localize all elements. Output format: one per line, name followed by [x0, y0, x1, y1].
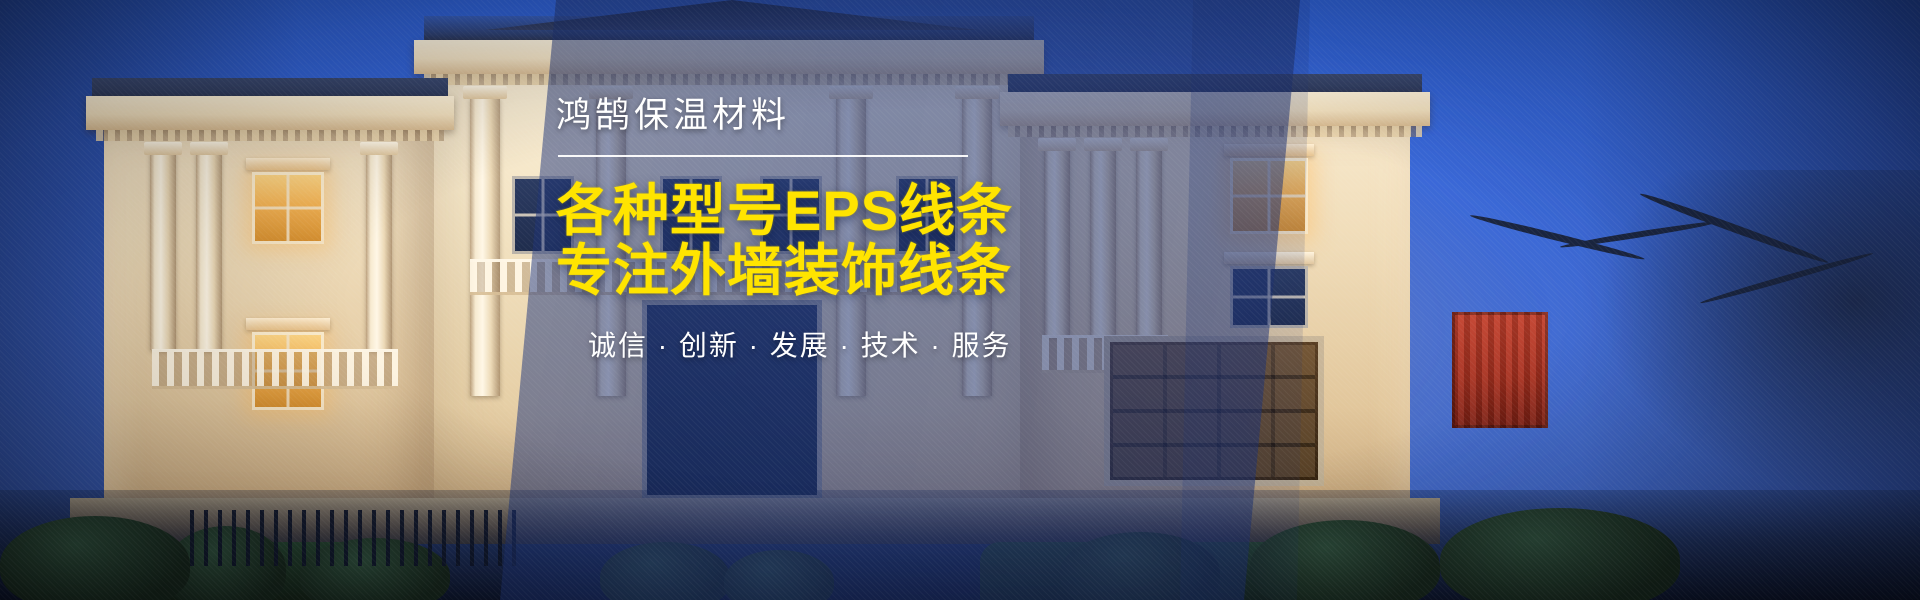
column: [150, 150, 176, 350]
building-left-dentils: [96, 130, 444, 141]
headline-line-2: 专注外墙装饰线条: [556, 241, 1076, 301]
column: [196, 150, 222, 350]
building-left-roof: [92, 78, 448, 98]
column: [366, 150, 392, 350]
column-capital: [463, 86, 507, 99]
window-muntins: [255, 175, 321, 241]
column-capital: [360, 142, 398, 155]
tagline: 诚信 · 创新 · 发展 · 技术 · 服务: [588, 332, 1076, 360]
promo-banner: 鸿鹄保温材料 各种型号EPS线条 专注外墙装饰线条 诚信 · 创新 · 发展 ·…: [0, 0, 1920, 600]
tree-right: [1590, 170, 1920, 500]
building-left-cornice: [86, 96, 454, 130]
fence-railing: [190, 510, 520, 566]
banner-copy-block: 鸿鹄保温材料 各种型号EPS线条 专注外墙装饰线条 诚信 · 创新 · 发展 ·…: [556, 98, 1076, 360]
balustrade: [152, 352, 398, 386]
window-lit: [252, 172, 324, 244]
column: [470, 96, 500, 396]
window-header: [246, 318, 330, 330]
column-capital: [190, 142, 228, 155]
brand-name: 鸿鹄保温材料: [556, 98, 1076, 133]
red-container-structure: [1452, 312, 1548, 428]
window-header: [246, 158, 330, 170]
headline: 各种型号EPS线条 专注外墙装饰线条: [556, 181, 1076, 302]
column-capital: [144, 142, 182, 155]
divider-rule: [558, 155, 968, 157]
text-overlay-panel-secondary: [1180, 0, 1310, 600]
headline-line-1: 各种型号EPS线条: [556, 179, 1013, 242]
